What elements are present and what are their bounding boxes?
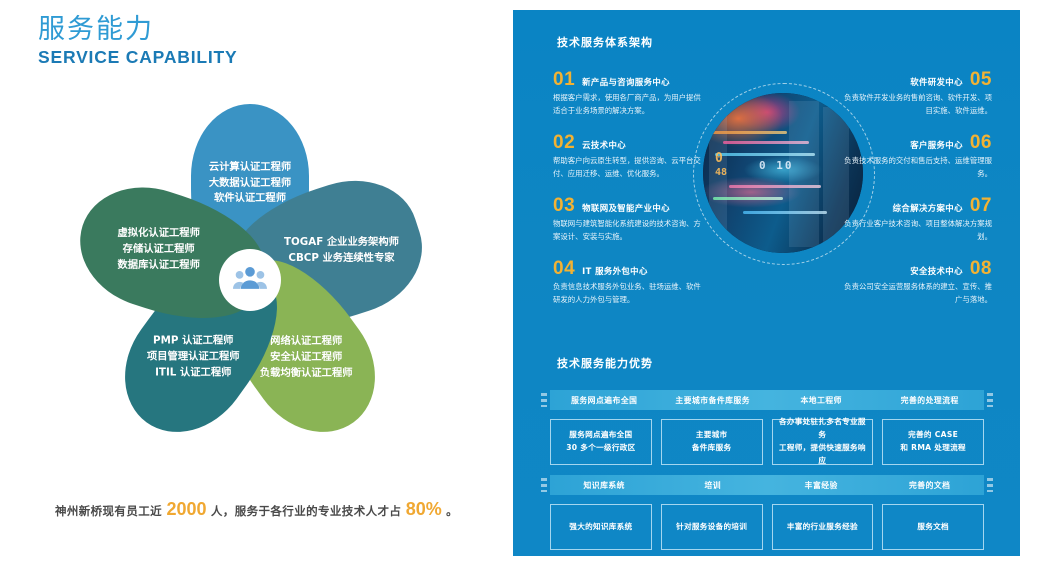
item-desc: 负责技术服务的交付和售后支持、运维管理服务。 — [840, 155, 992, 181]
item-number: 06 — [970, 133, 992, 152]
table-header-cell: 完善的处理流程 — [876, 395, 985, 406]
right-blue-panel: 技术服务体系架构 0 48 0 10 — [513, 10, 1020, 556]
item-desc: 负责公司安全运营服务体系的建立、宣传、推广与落地。 — [840, 281, 992, 307]
table-cell[interactable]: 丰富的行业服务经验 — [772, 504, 874, 550]
table-cell[interactable]: 服务文档 — [882, 504, 984, 550]
flower-petal-label: PMP 认证工程师项目管理认证工程师ITIL 认证工程师 — [147, 334, 240, 382]
item-number: 04 — [553, 259, 575, 278]
architecture-item-01[interactable]: 01 新产品与咨询服务中心 根据客户需求，使用各厂商产品，为用户提供适合于业务场… — [553, 70, 705, 118]
employee-caption: 神州新桥现有员工近 2000 人，服务于各行业的专业技术人才占 80% 。 — [0, 500, 513, 519]
table-cell[interactable]: 完善的 CASE和 RMA 处理流程 — [882, 419, 984, 465]
architecture-item-06[interactable]: 客户服务中心 06 负责技术服务的交付和售后支持、运维管理服务。 — [840, 133, 992, 181]
item-desc: 负责软件开发业务的售前咨询、软件开发、项目实施、软件运维。 — [840, 92, 992, 118]
flower-petal-label: TOGAF 企业业务架构师CBCP 业务连续性专家 — [284, 234, 399, 266]
table-header-cell: 培训 — [659, 480, 768, 491]
flower-hub — [219, 249, 281, 311]
advantages-table-2: 知识库系统 培训 丰富经验 完善的文档 强大的知识库系统 针对服务设备的培训 丰… — [550, 475, 984, 550]
data-center-photo: 0 48 0 10 — [703, 93, 863, 253]
item-name: 软件研发中心 — [910, 76, 963, 88]
item-name: IT 服务外包中心 — [582, 265, 648, 277]
item-number: 07 — [970, 196, 992, 215]
item-number: 08 — [970, 259, 992, 278]
item-desc: 物联网与建筑智能化系统建设的技术咨询、方案设计、安装与实施。 — [553, 218, 705, 244]
photo-streak — [713, 197, 783, 200]
item-number: 03 — [553, 196, 575, 215]
item-number: 01 — [553, 70, 575, 89]
caption-part1: 神州新桥现有员工近 — [55, 504, 162, 518]
table-row: 强大的知识库系统 针对服务设备的培训 丰富的行业服务经验 服务文档 — [550, 504, 984, 550]
caption-part3: 。 — [446, 504, 458, 518]
table-header-cell: 丰富经验 — [767, 480, 876, 491]
item-name: 物联网及智能产业中心 — [582, 202, 670, 214]
table-header-cell: 知识库系统 — [550, 480, 659, 491]
item-number: 05 — [970, 70, 992, 89]
photo-digit-glyph: 0 — [715, 151, 723, 166]
item-name: 客户服务中心 — [910, 139, 963, 151]
item-name: 综合解决方案中心 — [893, 202, 963, 214]
photo-streak — [729, 185, 821, 188]
people-group-icon — [233, 265, 267, 296]
architecture-item-07[interactable]: 综合解决方案中心 07 负责行业客户技术咨询、项目整体解决方案规划。 — [840, 196, 992, 244]
table-header-row: 知识库系统 培训 丰富经验 完善的文档 — [550, 475, 984, 495]
table-cell[interactable]: 主要城市备件库服务 — [661, 419, 763, 465]
advantages-table-1: 服务网点遍布全国 主要城市备件库服务 本地工程师 完善的处理流程 服务网点遍布全… — [550, 390, 984, 465]
caption-part2: 人，服务于各行业的专业技术人才占 — [211, 504, 401, 518]
item-name: 安全技术中心 — [910, 265, 963, 277]
item-desc: 帮助客户向云原生转型，提供咨询、云平台交付、应用迁移、运维、优化服务。 — [553, 155, 705, 181]
table-cell[interactable]: 针对服务设备的培训 — [661, 504, 763, 550]
title-chinese: 服务能力 — [38, 14, 237, 45]
table-row: 服务网点遍布全国30 多个一级行政区 主要城市备件库服务 各办事处驻扎多名专业服… — [550, 419, 984, 465]
architecture-item-04[interactable]: 04 IT 服务外包中心 负责信息技术服务外包业务、驻场运维、软件研发的人力外包… — [553, 259, 705, 307]
photo-code-glyph: 0 10 — [759, 159, 794, 172]
photo-streak — [711, 131, 787, 134]
advantages-heading: 技术服务能力优势 — [557, 355, 653, 371]
architecture-diagram: 0 48 0 10 01 新产品与咨询服务中心 根据客户需求，使用各厂商产品，为… — [513, 70, 1020, 320]
architecture-heading: 技术服务体系架构 — [557, 34, 653, 50]
photo-streak — [743, 211, 827, 214]
architecture-item-02[interactable]: 02 云技术中心 帮助客户向云原生转型，提供咨询、云平台交付、应用迁移、运维、优… — [553, 133, 705, 181]
page-title: 服务能力 SERVICE CAPABILITY — [38, 14, 237, 68]
item-desc: 负责信息技术服务外包业务、驻场运维、软件研发的人力外包与管理。 — [553, 281, 705, 307]
item-name: 新产品与咨询服务中心 — [582, 76, 670, 88]
caption-employee-count: 2000 — [166, 499, 206, 519]
architecture-item-03[interactable]: 03 物联网及智能产业中心 物联网与建筑智能化系统建设的技术咨询、方案设计、安装… — [553, 196, 705, 244]
architecture-item-05[interactable]: 软件研发中心 05 负责软件开发业务的售前咨询、软件开发、项目实施、软件运维。 — [840, 70, 992, 118]
table-cell[interactable]: 强大的知识库系统 — [550, 504, 652, 550]
capability-flower-diagram: 云计算认证工程师大数据认证工程师软件认证工程师 TOGAF 企业业务架构师CBC… — [40, 80, 460, 480]
left-section: 服务能力 SERVICE CAPABILITY 云计算认证工程师大数据认证工程师… — [0, 0, 513, 576]
item-desc: 负责行业客户技术咨询、项目整体解决方案规划。 — [840, 218, 992, 244]
flower-petal-label: 网络认证工程师安全认证工程师负载均衡认证工程师 — [260, 334, 353, 382]
table-cell[interactable]: 服务网点遍布全国30 多个一级行政区 — [550, 419, 652, 465]
table-header-row: 服务网点遍布全国 主要城市备件库服务 本地工程师 完善的处理流程 — [550, 390, 984, 410]
table-header-cell: 主要城市备件库服务 — [659, 395, 768, 406]
item-number: 02 — [553, 133, 575, 152]
table-header-cell: 服务网点遍布全国 — [550, 395, 659, 406]
table-header-cell: 完善的文档 — [876, 480, 985, 491]
photo-streak — [715, 153, 815, 156]
table-header-cell: 本地工程师 — [767, 395, 876, 406]
item-name: 云技术中心 — [582, 139, 626, 151]
architecture-item-08[interactable]: 安全技术中心 08 负责公司安全运营服务体系的建立、宣传、推广与落地。 — [840, 259, 992, 307]
flower-petal-label: 云计算认证工程师大数据认证工程师软件认证工程师 — [209, 160, 291, 208]
photo-digit-glyph: 48 — [715, 167, 727, 178]
title-english: SERVICE CAPABILITY — [38, 47, 237, 68]
table-cell[interactable]: 各办事处驻扎多名专业服务工程师，提供快速服务响应 — [772, 419, 874, 465]
item-desc: 根据客户需求，使用各厂商产品，为用户提供适合于业务场景的解决方案。 — [553, 92, 705, 118]
slide-page: 服务能力 SERVICE CAPABILITY 云计算认证工程师大数据认证工程师… — [0, 0, 1041, 576]
photo-rack — [789, 101, 819, 247]
caption-percent: 80% — [406, 499, 442, 519]
flower-petal-label: 虚拟化认证工程师存储认证工程师数据库认证工程师 — [117, 226, 199, 274]
photo-streak — [723, 141, 809, 144]
photo-circle: 0 48 0 10 — [703, 93, 863, 253]
